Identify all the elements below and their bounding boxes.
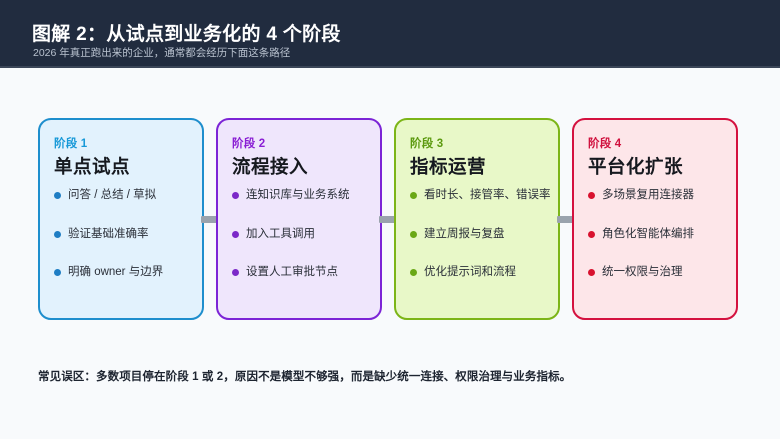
stage-card-2[interactable]: 阶段 2 流程接入 连知识库与业务系统 加入工具调用 设置人工审批节点 xyxy=(216,118,382,320)
list-item: 优化提示词和流程 xyxy=(410,265,545,281)
bullet-text: 验证基础准确率 xyxy=(68,228,149,240)
stage-label-3: 阶段 3 xyxy=(410,135,545,151)
list-item: 明确 owner 与边界 xyxy=(54,265,189,281)
bullet-dot-icon xyxy=(232,231,239,238)
stage-label-2: 阶段 2 xyxy=(232,135,367,151)
list-item: 问答 / 总结 / 草拟 xyxy=(54,188,189,204)
bullet-dot-icon xyxy=(410,192,417,199)
stage-bullets-4: 多场景复用连接器 角色化智能体编排 统一权限与治理 xyxy=(588,188,723,281)
bullet-text: 加入工具调用 xyxy=(246,228,315,240)
bullet-text: 设置人工审批节点 xyxy=(246,266,338,278)
stage-title-1: 单点试点 xyxy=(54,156,189,177)
stage-bullets-3: 看时长、接管率、错误率 建立周报与复盘 优化提示词和流程 xyxy=(410,188,545,281)
stage-label-1: 阶段 1 xyxy=(54,135,189,151)
stage-title-4: 平台化扩张 xyxy=(588,156,723,177)
bullet-dot-icon xyxy=(588,231,595,238)
bullet-dot-icon xyxy=(54,192,61,199)
bullet-dot-icon xyxy=(54,231,61,238)
bullet-dot-icon xyxy=(588,269,595,276)
bullet-dot-icon xyxy=(232,192,239,199)
footer-note: 常见误区：多数项目停在阶段 1 或 2，原因不是模型不够强，而是缺少统一连接、权… xyxy=(38,368,571,384)
stages-row: 阶段 1 单点试点 问答 / 总结 / 草拟 验证基础准确率 明确 owner … xyxy=(38,118,742,320)
list-item: 建立周报与复盘 xyxy=(410,227,545,243)
header-bar: 图解 2：从试点到业务化的 4 个阶段 2026 年真正跑出来的企业，通常都会经… xyxy=(0,0,780,68)
bullet-text: 多场景复用连接器 xyxy=(602,189,694,201)
stage-card-1[interactable]: 阶段 1 单点试点 问答 / 总结 / 草拟 验证基础准确率 明确 owner … xyxy=(38,118,204,320)
bullet-dot-icon xyxy=(232,269,239,276)
bullet-text: 建立周报与复盘 xyxy=(424,228,505,240)
list-item: 设置人工审批节点 xyxy=(232,265,367,281)
page-title: 图解 2：从试点到业务化的 4 个阶段 xyxy=(32,19,341,46)
bullet-dot-icon xyxy=(588,192,595,199)
bullet-dot-icon xyxy=(410,231,417,238)
list-item: 统一权限与治理 xyxy=(588,265,723,281)
list-item: 验证基础准确率 xyxy=(54,227,189,243)
bullet-text: 看时长、接管率、错误率 xyxy=(424,189,551,201)
bullet-dot-icon xyxy=(410,269,417,276)
list-item: 多场景复用连接器 xyxy=(588,188,723,204)
bullet-dot-icon xyxy=(54,269,61,276)
stage-bullets-1: 问答 / 总结 / 草拟 验证基础准确率 明确 owner 与边界 xyxy=(54,188,189,281)
stage-bullets-2: 连知识库与业务系统 加入工具调用 设置人工审批节点 xyxy=(232,188,367,281)
stage-title-2: 流程接入 xyxy=(232,156,367,177)
bullet-text: 问答 / 总结 / 草拟 xyxy=(68,189,156,201)
bullet-text: 连知识库与业务系统 xyxy=(246,189,350,201)
bullet-text: 优化提示词和流程 xyxy=(424,266,516,278)
stage-card-4[interactable]: 阶段 4 平台化扩张 多场景复用连接器 角色化智能体编排 统一权限与治理 xyxy=(572,118,738,320)
list-item: 连知识库与业务系统 xyxy=(232,188,367,204)
list-item: 角色化智能体编排 xyxy=(588,227,723,243)
list-item: 加入工具调用 xyxy=(232,227,367,243)
bullet-text: 明确 owner 与边界 xyxy=(68,266,163,278)
bullet-text: 角色化智能体编排 xyxy=(602,228,694,240)
stage-card-3[interactable]: 阶段 3 指标运营 看时长、接管率、错误率 建立周报与复盘 优化提示词和流程 xyxy=(394,118,560,320)
bullet-text: 统一权限与治理 xyxy=(602,266,683,278)
page-subtitle: 2026 年真正跑出来的企业，通常都会经历下面这条路径 xyxy=(33,45,290,60)
stage-title-3: 指标运营 xyxy=(410,156,545,177)
stage-label-4: 阶段 4 xyxy=(588,135,723,151)
list-item: 看时长、接管率、错误率 xyxy=(410,188,545,204)
